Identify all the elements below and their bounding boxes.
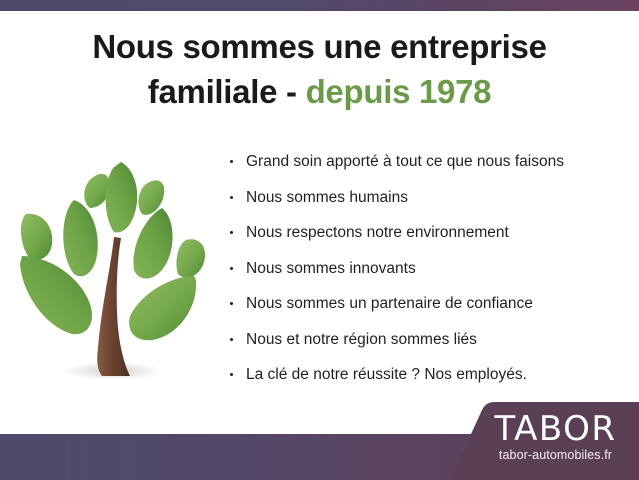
bullet-icon <box>230 160 233 163</box>
list-item-label: La clé de notre réussite ? Nos employés. <box>246 366 527 383</box>
tree-leaf <box>133 208 172 279</box>
tree-trunk <box>97 237 130 376</box>
slide-canvas: Nous sommes une entreprise familiale - d… <box>0 0 639 480</box>
brand-name: TABOR <box>472 411 639 447</box>
tree-leaf <box>21 214 52 260</box>
bullet-icon <box>230 302 233 305</box>
page-title-line-2-main: familiale - <box>148 73 306 110</box>
page-title: Nous sommes une entreprise familiale - d… <box>0 24 639 114</box>
list-item: Grand soin apporté à tout ce que nous fa… <box>228 152 628 171</box>
list-item: Nous respectons notre environnement <box>228 223 628 242</box>
page-title-line-2: familiale - depuis 1978 <box>0 69 639 114</box>
tree-illustration <box>18 152 214 390</box>
list-item: Nous et notre région sommes liés <box>228 330 628 349</box>
tree-leaf <box>106 162 138 232</box>
bullet-icon <box>230 231 233 234</box>
page-title-line-1: Nous sommes une entreprise <box>0 24 639 69</box>
brand-url: tabor-automobiles.fr <box>472 448 639 463</box>
tree-leaf <box>129 276 196 340</box>
list-item: La clé de notre réussite ? Nos employés. <box>228 365 628 384</box>
brand-logo: TABOR tabor-automobiles.fr <box>472 411 639 463</box>
list-item: Nous sommes innovants <box>228 259 628 278</box>
bullet-icon <box>230 267 233 270</box>
list-item: Nous sommes un partenaire de confiance <box>228 294 628 313</box>
bullet-icon <box>230 196 233 199</box>
tree-leaf <box>63 200 98 276</box>
bullet-icon <box>230 373 233 376</box>
value-list: Grand soin apporté à tout ce que nous fa… <box>228 152 628 401</box>
list-item-label: Nous et notre région sommes liés <box>246 331 477 348</box>
bullet-icon <box>230 338 233 341</box>
list-item: Nous sommes humains <box>228 188 628 207</box>
tree-leaf <box>176 239 205 277</box>
list-item-label: Nous sommes innovants <box>246 260 416 277</box>
list-item-label: Grand soin apporté à tout ce que nous fa… <box>246 153 564 170</box>
list-item-label: Nous sommes humains <box>246 189 408 206</box>
top-accent-bar <box>0 0 639 11</box>
list-item-label: Nous respectons notre environnement <box>246 224 509 241</box>
page-title-accent: depuis 1978 <box>306 73 492 110</box>
list-item-label: Nous sommes un partenaire de confiance <box>246 295 533 312</box>
